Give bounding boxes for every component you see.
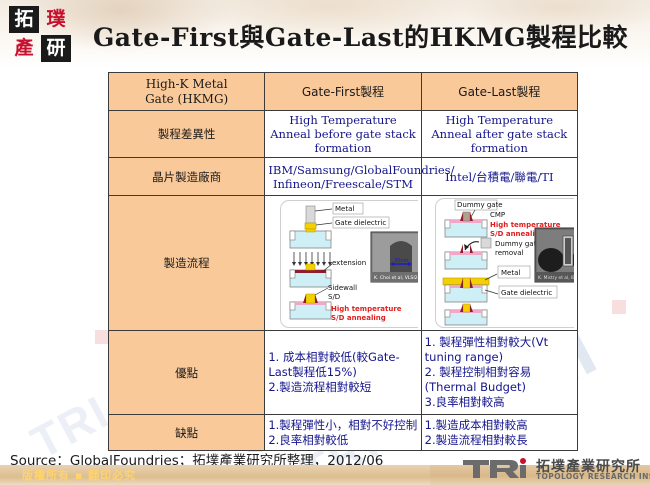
copyright-notice: 版權所有 ▪ 翻印必究	[22, 467, 136, 483]
svg-text:Sidewall: Sidewall	[328, 284, 357, 292]
svg-text:Metal: Metal	[335, 205, 354, 213]
cell-gate-first-advantages: 1. 成本相對較低(較Gate-Last製程低15%) 2.製造流程相對較短	[265, 331, 421, 415]
tri-wordmark-icon	[462, 457, 534, 481]
svg-text:30nm: 30nm	[394, 258, 409, 264]
watermark-dot	[95, 330, 109, 344]
table-row: 缺點 1.製程彈性小，相對不好控制 2.良率相對較低 1.製造成本相對較高 2.…	[109, 415, 578, 451]
svg-text:K. Choi et al, VLSI2009: K. Choi et al, VLSI2009	[374, 275, 417, 281]
comparison-table: High-K Metal Gate (HKMG) Gate-First製程 Ga…	[108, 72, 578, 451]
list-item: 1. 製程彈性相對較大(Vt tuning range)	[425, 335, 574, 365]
svg-text:K. Mistry et al, IEDM2007: K. Mistry et al, IEDM2007	[538, 275, 574, 281]
list-item: 1. 成本相對較低(較Gate-Last製程低15%)	[268, 350, 417, 380]
table-row: 製造流程	[109, 196, 578, 331]
logo-char-4: 研	[41, 35, 71, 62]
cell-gate-last-process-difference: High Temperature Anneal after gate stack…	[421, 111, 577, 158]
logo-char-3: 產	[9, 35, 39, 62]
cell-gate-first-process-difference: High Temperature Anneal before gate stac…	[265, 111, 421, 158]
svg-text:CMP: CMP	[490, 211, 505, 219]
list-item: 2. 製程控制相對容易 (Thermal Budget)	[425, 365, 574, 395]
cell-gate-first-disadvantages: 1.製程彈性小，相對不好控制 2.良率相對較低	[265, 415, 421, 451]
svg-text:Gate dielectric: Gate dielectric	[501, 289, 552, 297]
gate-first-schematic-svg: Metal Gate dielectric	[268, 198, 417, 328]
list-item: 2.製造流程相對較短	[268, 380, 417, 395]
tri-brand-name-en: TOPOLOGY RESEARCH INSTITUTE	[536, 472, 650, 481]
table-corner-header: High-K Metal Gate (HKMG)	[109, 73, 265, 111]
cell-gate-last-disadvantages: 1.製造成本相對較高 2.製造流程相對較長	[421, 415, 577, 451]
logo-char-2: 璞	[41, 6, 71, 33]
column-header-gate-first: Gate-First製程	[265, 73, 421, 111]
gate-last-schematic-svg: Dummy gate CMP High temperature S/D an	[425, 198, 574, 328]
table-row: 優點 1. 成本相對較低(較Gate-Last製程低15%) 2.製造流程相對較…	[109, 331, 578, 415]
corner-header-line2: Gate (HKMG)	[145, 92, 228, 106]
svg-text:S/D: S/D	[328, 293, 340, 301]
column-header-gate-last: Gate-Last製程	[421, 73, 577, 111]
page-title: Gate-First與Gate-Last的HKMG製程比較	[88, 18, 633, 54]
svg-text:S/D annealing: S/D annealing	[331, 314, 386, 322]
svg-text:Gate dielectric: Gate dielectric	[335, 219, 386, 227]
list-item: 2.製造流程相對較長	[425, 433, 574, 448]
svg-text:extension: extension	[332, 259, 366, 267]
table-row: 製程差異性 High Temperature Anneal before gat…	[109, 111, 578, 158]
list-item: 3.良率相對較高	[425, 395, 574, 410]
cell-gate-last-advantages: 1. 製程彈性相對較大(Vt tuning range) 2. 製程控制相對容易…	[421, 331, 577, 415]
tri-brand-logo: 拓墣產業研究所 TOPOLOGY RESEARCH INSTITUTE	[462, 457, 644, 483]
svg-text:removal: removal	[495, 249, 524, 257]
row-label-process-difference: 製程差異性	[109, 111, 265, 158]
corner-header-line1: High-K Metal	[146, 77, 228, 91]
gate-last-flow-diagram: Dummy gate CMP High temperature S/D an	[425, 198, 574, 328]
svg-text:Dummy gate: Dummy gate	[495, 240, 541, 248]
slide-canvas: TRI TRI TRI TRI TRI 拓 璞 產 研 Gate-First與G…	[0, 0, 650, 485]
svg-text:Dummy gate: Dummy gate	[457, 201, 503, 209]
table-row: 晶片製造廠商 IBM/Samsung/GlobalFoundries/ Infi…	[109, 158, 578, 196]
list-item: 1.製造成本相對較高	[425, 418, 574, 433]
cell-gate-first-diagram: Metal Gate dielectric	[265, 196, 421, 331]
table-header-row: High-K Metal Gate (HKMG) Gate-First製程 Ga…	[109, 73, 578, 111]
list-item: 2.良率相對較低	[268, 433, 417, 448]
gate-first-flow-diagram: Metal Gate dielectric	[268, 198, 417, 328]
row-label-advantages: 優點	[109, 331, 265, 415]
watermark-dot	[612, 300, 626, 314]
list-item: 1.製程彈性小，相對不好控制	[268, 418, 417, 433]
svg-text:Metal: Metal	[501, 269, 520, 277]
svg-text:High temperature: High temperature	[331, 305, 402, 313]
tri-logo-mark: 拓 璞 產 研	[9, 6, 73, 64]
cell-gate-last-diagram: Dummy gate CMP High temperature S/D an	[421, 196, 577, 331]
logo-char-1: 拓	[9, 6, 39, 33]
row-label-chip-makers: 晶片製造廠商	[109, 158, 265, 196]
row-label-disadvantages: 缺點	[109, 415, 265, 451]
cell-gate-first-chip-makers: IBM/Samsung/GlobalFoundries/ Infineon/Fr…	[265, 158, 421, 196]
row-label-manufacturing-flow: 製造流程	[109, 196, 265, 331]
